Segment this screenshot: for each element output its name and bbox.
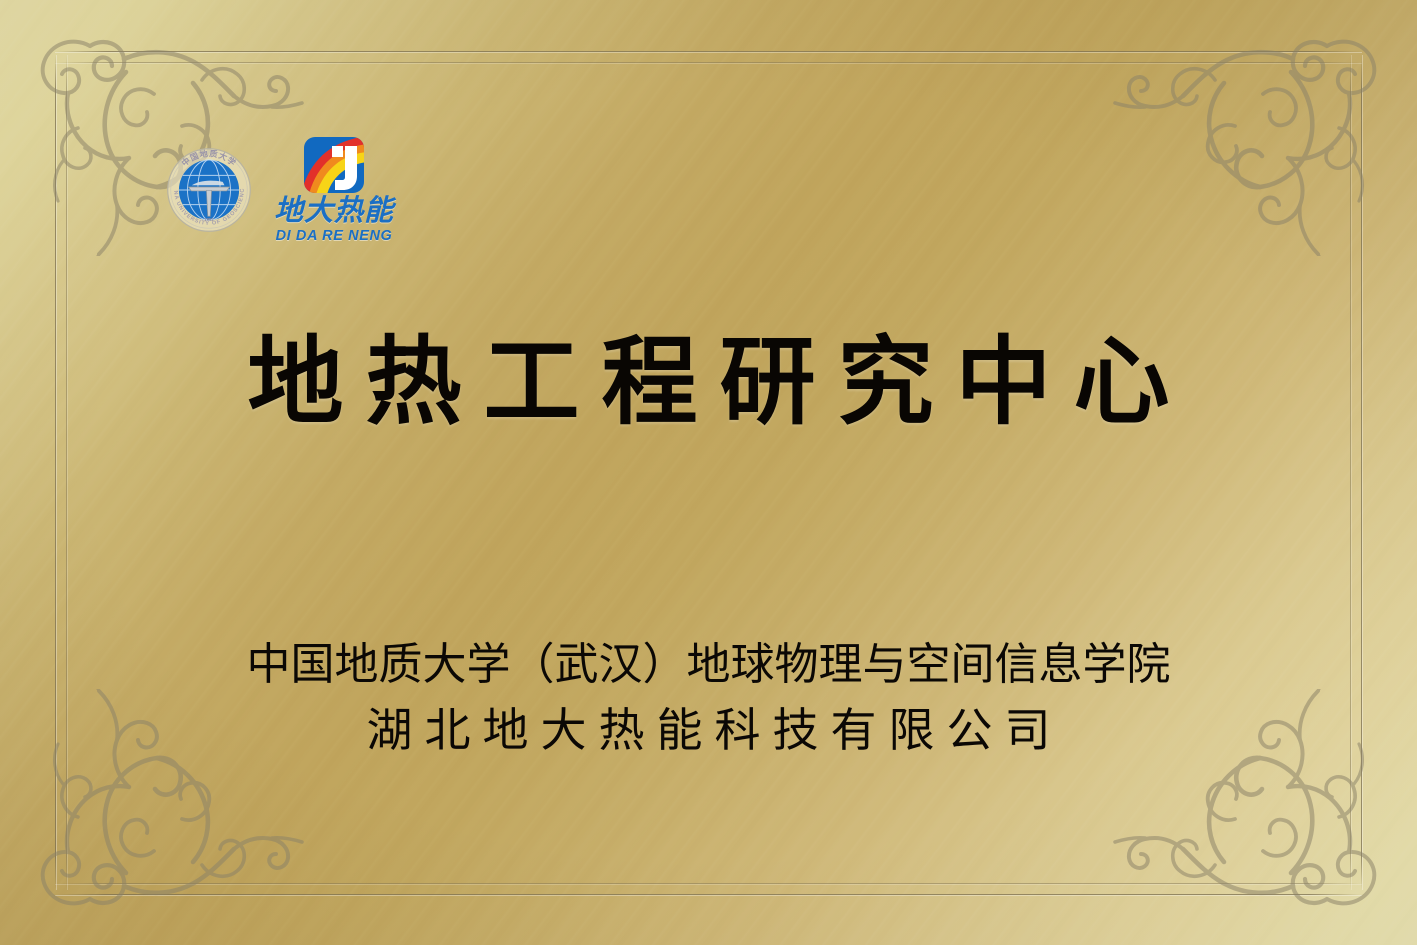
corner-ornament-top-right — [1111, 6, 1411, 256]
svg-text:1952: 1952 — [204, 217, 214, 222]
frame-rule-bottom-inner — [55, 883, 1362, 884]
organization-line: 中国地质大学（武汉）地球物理与空间信息学院 — [0, 640, 1417, 691]
footer-block: 中国地质大学（武汉）地球物理与空间信息学院 湖北地大热能科技有限公司 — [0, 640, 1417, 761]
frame-rule-top — [55, 51, 1362, 52]
frame-rule-top-inner — [55, 62, 1362, 63]
didareneng-rainbow-icon — [302, 136, 366, 196]
frame-rule-left-inner — [66, 55, 67, 890]
university-seal-logo: 中国地质大学 CHINA UNIVERSITY OF GEOSCIENCES 1… — [166, 147, 252, 233]
page-title: 地热工程研究中心 — [0, 332, 1417, 433]
brand-name-en: DI DA RE NENG — [276, 229, 393, 244]
logo-row: 中国地质大学 CHINA UNIVERSITY OF GEOSCIENCES 1… — [166, 136, 394, 244]
company-line: 湖北地大热能科技有限公司 — [0, 699, 1417, 761]
frame-rule-bottom — [55, 894, 1362, 895]
company-brand-logo: 地大热能 DI DA RE NENG — [274, 136, 394, 244]
frame-rule-right-inner — [1350, 55, 1351, 890]
award-plaque: 中国地质大学 CHINA UNIVERSITY OF GEOSCIENCES 1… — [0, 0, 1417, 945]
frame-rule-right — [1361, 55, 1362, 890]
frame-rule-left — [55, 55, 56, 890]
brand-name-cn: 地大热能 — [274, 197, 394, 226]
